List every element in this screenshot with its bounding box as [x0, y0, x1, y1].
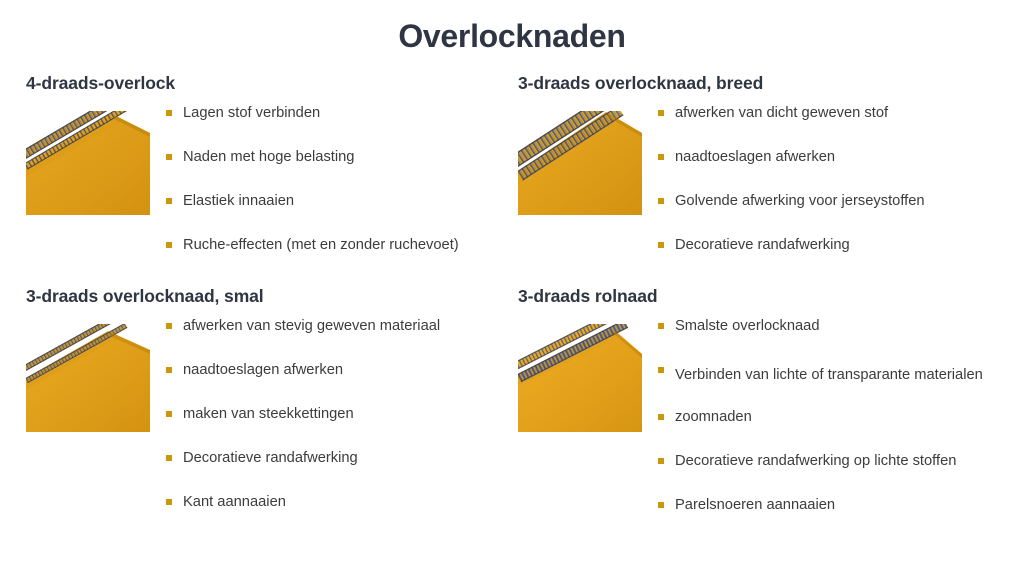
- list-item: afwerken van stevig geweven materiaal: [166, 317, 516, 337]
- list-item: Naden met hoge belasting: [166, 148, 516, 168]
- section-three-thread-narrow: 3-draads overlocknaad, smal: [26, 285, 516, 513]
- list-item: Elastiek innaaien: [166, 192, 516, 212]
- list-item: Golvende afwerking voor jerseystoffen: [658, 192, 1018, 212]
- bullet-square-icon: [166, 455, 172, 461]
- bullet-square-icon: [658, 198, 664, 204]
- swatch-wrap: [518, 317, 644, 432]
- list-item-label: zoomnaden: [675, 409, 752, 425]
- fabric-swatch-3-thread-wide-image: [518, 111, 642, 215]
- list-item: Ruche-effecten (met en zonder ruchevoet): [166, 236, 516, 256]
- bullet-square-icon: [166, 367, 172, 373]
- bullet-square-icon: [658, 414, 664, 420]
- list-item: naadtoeslagen afwerken: [166, 361, 516, 381]
- section-body: Lagen stof verbinden Naden met hoge bela…: [26, 104, 516, 255]
- section-four-thread-overlock: 4-draads-overlock: [26, 72, 516, 256]
- list-item-label: afwerken van stevig geweven materiaal: [183, 318, 440, 334]
- section-title: 4-draads-overlock: [26, 72, 516, 95]
- bullet-square-icon: [658, 242, 664, 248]
- fabric-swatch-3-thread-rolled-hem-image: [518, 324, 642, 432]
- list-item-label: Parelsnoeren aannaaien: [675, 497, 835, 513]
- section-body: Smalste overlocknaad Verbinden van licht…: [518, 317, 1018, 515]
- section-body: afwerken van stevig geweven materiaal na…: [26, 317, 516, 512]
- list-item-label: Smalste overlocknaad: [675, 318, 820, 334]
- list-item: maken van steekkettingen: [166, 405, 516, 425]
- bullet-square-icon: [166, 323, 172, 329]
- bullet-square-icon: [658, 323, 664, 329]
- bullet-square-icon: [658, 367, 664, 373]
- bullet-square-icon: [658, 110, 664, 116]
- list-item-label: Decoratieve randafwerking op lichte stof…: [675, 453, 956, 469]
- list-item-label: naadtoeslagen afwerken: [675, 149, 835, 165]
- bullet-square-icon: [166, 499, 172, 505]
- bullet-list: Smalste overlocknaad Verbinden van licht…: [644, 317, 1018, 515]
- list-item: Verbinden van lichte of transparante mat…: [658, 361, 1018, 390]
- list-item: zoomnaden: [658, 408, 1018, 428]
- bullet-square-icon: [658, 154, 664, 160]
- bullet-list: Lagen stof verbinden Naden met hoge bela…: [152, 104, 516, 255]
- bullet-list: afwerken van stevig geweven materiaal na…: [152, 317, 516, 512]
- section-three-thread-rolled-hem: 3-draads rolnaad: [518, 285, 1018, 516]
- list-item: Parelsnoeren aannaaien: [658, 496, 1018, 516]
- list-item-label: Ruche-effecten (met en zonder ruchevoet): [183, 237, 459, 253]
- list-item: Smalste overlocknaad: [658, 317, 1018, 337]
- list-item: Decoratieve randafwerking: [658, 236, 1018, 256]
- section-title: 3-draads overlocknaad, smal: [26, 285, 516, 308]
- list-item: Lagen stof verbinden: [166, 104, 516, 124]
- list-item: Decoratieve randafwerking: [166, 449, 516, 469]
- section-title: 3-draads overlocknaad, breed: [518, 72, 1018, 95]
- bullet-square-icon: [166, 154, 172, 160]
- bullet-square-icon: [166, 411, 172, 417]
- bullet-square-icon: [166, 198, 172, 204]
- bullet-square-icon: [166, 110, 172, 116]
- swatch-wrap: [26, 104, 152, 215]
- list-item: Kant aannaaien: [166, 493, 516, 513]
- list-item: afwerken van dicht geweven stof: [658, 104, 1018, 124]
- list-item-label: maken van steekkettingen: [183, 406, 354, 422]
- list-item-label: naadtoeslagen afwerken: [183, 362, 343, 378]
- list-item: Decoratieve randafwerking op lichte stof…: [658, 452, 1018, 472]
- swatch-wrap: [518, 104, 644, 215]
- list-item-label: Elastiek innaaien: [183, 193, 294, 209]
- bullet-square-icon: [166, 242, 172, 248]
- list-item-label: Kant aannaaien: [183, 494, 286, 510]
- fabric-swatch-4-thread-overlock-image: [26, 111, 150, 215]
- bullet-square-icon: [658, 458, 664, 464]
- swatch-wrap: [26, 317, 152, 432]
- section-three-thread-wide: 3-draads overlocknaad, breed: [518, 72, 1018, 256]
- list-item-label: Golvende afwerking voor jerseystoffen: [675, 193, 925, 209]
- section-body: afwerken van dicht geweven stof naadtoes…: [518, 104, 1018, 255]
- page-title: Overlocknaden: [0, 16, 1024, 58]
- section-title: 3-draads rolnaad: [518, 285, 1018, 308]
- list-item-label: Decoratieve randafwerking: [675, 237, 850, 253]
- fabric-swatch-3-thread-narrow-image: [26, 324, 150, 432]
- list-item-label: afwerken van dicht geweven stof: [675, 105, 888, 121]
- list-item-label: Decoratieve randafwerking: [183, 450, 358, 466]
- bullet-list: afwerken van dicht geweven stof naadtoes…: [644, 104, 1018, 255]
- bullet-square-icon: [658, 502, 664, 508]
- list-item-label: Lagen stof verbinden: [183, 105, 320, 121]
- list-item: naadtoeslagen afwerken: [658, 148, 1018, 168]
- list-item-label: Verbinden van lichte of transparante mat…: [675, 367, 983, 383]
- list-item-label: Naden met hoge belasting: [183, 149, 354, 165]
